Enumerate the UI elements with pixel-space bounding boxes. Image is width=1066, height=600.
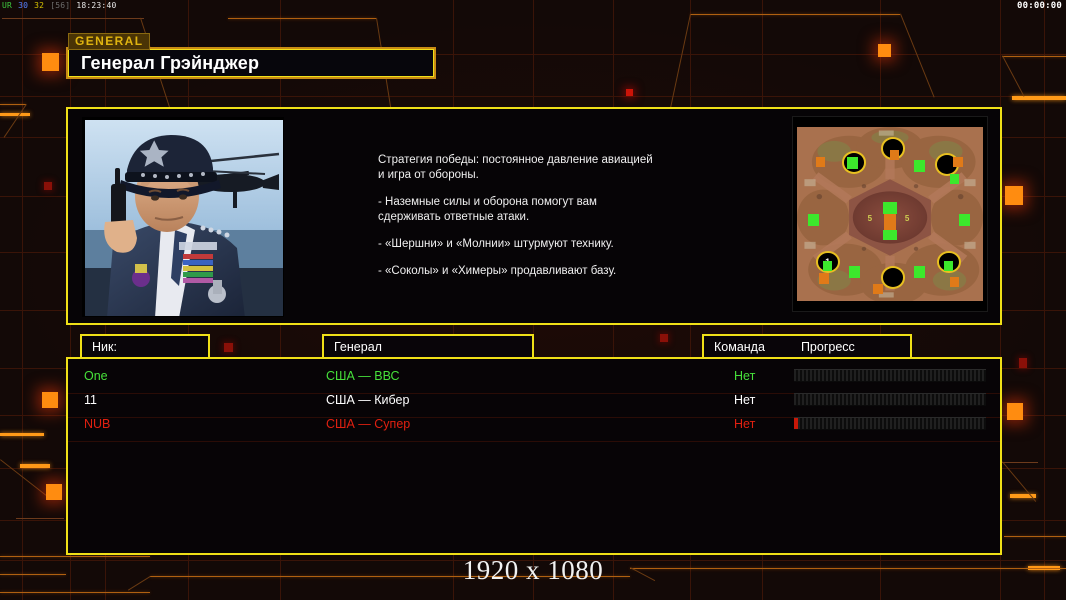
circuit-chip (660, 334, 668, 342)
table-row[interactable]: NUB США — Супер Нет (68, 412, 1000, 436)
row-progress-bar (794, 393, 986, 406)
circuit-chip (42, 392, 58, 408)
row-general: США — Супер (326, 417, 410, 431)
minimap-tech-dot (808, 214, 819, 226)
minimap-tech-dot (849, 266, 860, 278)
grid-line (22, 0, 23, 600)
description-paragraph: - «Соколы» и «Химеры» продавливают базу. (378, 264, 708, 279)
description-paragraph: - Наземные силы и оборона помогут вам сд… (378, 195, 708, 225)
circuit-trace (228, 18, 376, 19)
minimap-oil-marker (950, 277, 959, 287)
minimap-tech-dot (944, 261, 953, 271)
row-progress-bar (794, 369, 986, 382)
match-minimap[interactable]: 1 5 5 (792, 116, 988, 312)
minimap-oil-marker (816, 157, 825, 167)
circuit-trace (0, 433, 44, 436)
status-seg-4: 18:23:40 (76, 1, 116, 10)
circuit-trace (0, 104, 26, 105)
row-progress-bar (794, 417, 986, 430)
circuit-chip (878, 44, 891, 57)
resolution-label: 1920 x 1080 (0, 555, 1066, 586)
minimap-tech-dot (914, 266, 925, 278)
circuit-trace (1012, 96, 1066, 100)
column-header-team-progress: Команда Прогресс (702, 334, 912, 359)
strategy-description: Стратегия победы: постоянное давление ав… (378, 153, 708, 279)
grid-line (1044, 0, 1045, 600)
circuit-trace (0, 113, 30, 116)
clock-display: 00:00:00 (1017, 1, 1062, 11)
circuit-chip (1005, 186, 1023, 205)
description-paragraph: Стратегия победы: постоянное давление ав… (378, 153, 708, 183)
circuit-chip (626, 89, 633, 96)
circuit-chip (1019, 358, 1027, 368)
page-title-box: Генерал Грэйнджер (68, 49, 434, 77)
circuit-trace (0, 592, 150, 593)
circuit-chip (224, 343, 233, 352)
status-seg-0: UR (2, 1, 12, 10)
table-row[interactable]: One США — ВВС Нет (68, 364, 1000, 388)
circuit-chip (1007, 403, 1023, 420)
column-header-general: Генерал (322, 334, 534, 359)
circuit-trace (1004, 536, 1066, 537)
circuit-trace (20, 464, 50, 468)
minimap-oil-marker (953, 157, 962, 167)
minimap-tech-dot (883, 202, 898, 214)
circuit-chip (44, 182, 52, 190)
minimap-tech-dot (959, 214, 970, 226)
player-list-panel: One США — ВВС Нет 11 США — Кибер Нет NUB… (66, 357, 1002, 555)
general-info-panel: Стратегия победы: постоянное давление ав… (66, 107, 1002, 325)
minimap-oil-marker (819, 273, 828, 283)
page-title: Генерал Грэйнджер (81, 53, 259, 74)
column-header-team-label: Команда (714, 340, 765, 354)
row-progress-fill (794, 418, 798, 429)
column-header-nick-label: Ник: (92, 340, 117, 354)
row-team: Нет (734, 417, 755, 431)
status-bar: UR 30 32 [56] 18:23:40 00:00:00 (0, 0, 1066, 14)
general-granger-portrait (82, 117, 284, 317)
row-divider (68, 441, 1000, 442)
minimap-tech-dot (883, 230, 898, 240)
circuit-trace (1002, 56, 1066, 57)
minimap-player-slot[interactable] (881, 266, 905, 289)
description-paragraph: - «Шершни» и «Молнии» штурмуют технику. (378, 237, 708, 252)
row-general: США — Кибер (326, 393, 409, 407)
minimap-tech-dot (823, 261, 832, 271)
row-nick: NUB (84, 417, 110, 431)
status-seg-1: 30 (18, 1, 28, 10)
minimap-tech-dot (847, 157, 858, 169)
minimap-supply-label: 5 (905, 214, 909, 223)
minimap-oil-marker (890, 150, 899, 160)
row-team: Нет (734, 369, 755, 383)
minimap-oil-marker (873, 284, 882, 294)
row-nick: 11 (84, 393, 97, 407)
column-header-general-label: Генерал (334, 340, 382, 354)
circuit-trace (1002, 462, 1038, 463)
minimap-supply-label: 5 (868, 214, 872, 223)
circuit-chip (42, 53, 59, 71)
minimap-tech-dot (914, 160, 925, 172)
minimap-center-structure-icon (884, 214, 895, 230)
minimap-tech-dot (950, 174, 959, 184)
table-row[interactable]: 11 США — Кибер Нет (68, 388, 1000, 412)
general-tab-label: GENERAL (68, 33, 150, 50)
column-header-nick: Ник: (80, 334, 210, 359)
status-seg-2: 32 (34, 1, 44, 10)
row-general: США — ВВС (326, 369, 400, 383)
circuit-trace (16, 518, 64, 519)
status-seg-3: [56] (50, 1, 70, 10)
circuit-trace (2, 18, 144, 19)
row-nick: One (84, 369, 108, 383)
minimap-surface[interactable]: 1 5 5 (797, 127, 983, 301)
column-header-progress-label: Прогресс (801, 340, 855, 354)
row-team: Нет (734, 393, 755, 407)
circuit-chip (46, 484, 62, 500)
circuit-trace (690, 14, 900, 15)
status-bar-left: UR 30 32 [56] 18:23:40 (2, 1, 117, 10)
portrait-image (83, 118, 284, 317)
